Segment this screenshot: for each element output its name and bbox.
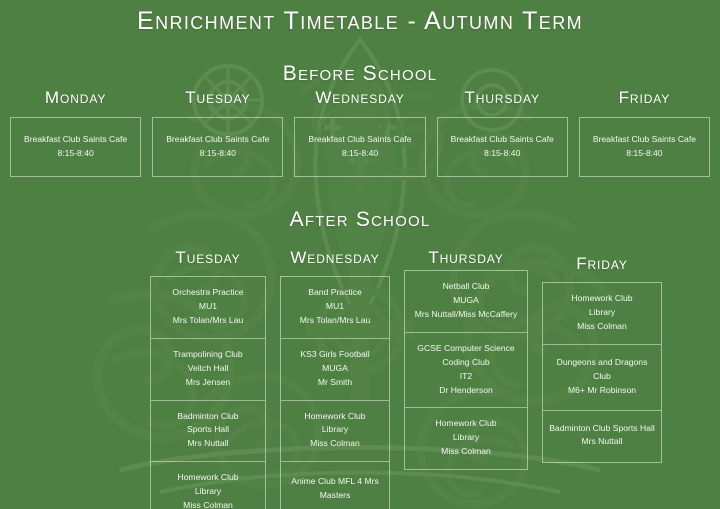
- activity-line: Mrs Tolan/Mrs Lau: [155, 314, 261, 328]
- activity-line: Mr Smith: [285, 376, 385, 390]
- activity-line: Miss Colman: [285, 437, 385, 451]
- activity-line: Orchestra Practice: [155, 286, 261, 300]
- activity-line: Dr Henderson: [409, 384, 523, 398]
- before-school-column-thursday: Thursday Breakfast Club Saints Cafe 8:15…: [437, 88, 568, 177]
- activity-line: Mrs Tolan/Mrs Lau: [285, 314, 385, 328]
- activity-line: 8:15-8:40: [158, 147, 277, 161]
- activity-line: Badminton Club: [155, 410, 261, 424]
- activity-line: Breakfast Club Saints Cafe: [443, 133, 562, 147]
- activity-line: Masters: [285, 489, 385, 503]
- activity-line: 8:15-8:40: [16, 147, 135, 161]
- activity-line: Veitch Hall: [155, 362, 261, 376]
- day-header-tuesday: Tuesday: [150, 248, 266, 268]
- before-school-column-friday: Friday Breakfast Club Saints Cafe 8:15-8…: [579, 88, 710, 177]
- activity-line: Miss Colman: [155, 499, 261, 509]
- activity-line: Miss Colman: [409, 445, 523, 459]
- activity-card[interactable]: Homework Club Library Miss Colman: [281, 401, 389, 463]
- activity-card[interactable]: Breakfast Club Saints Cafe 8:15-8:40: [152, 117, 283, 177]
- page-title: Enrichment Timetable - Autumn Term: [0, 0, 720, 36]
- activity-line: Trampolining Club: [155, 348, 261, 362]
- activity-line: MUGA: [285, 362, 385, 376]
- activity-line: Homework Club: [285, 410, 385, 424]
- day-header-wednesday: Wednesday: [294, 88, 425, 108]
- activity-line: MU1: [155, 300, 261, 314]
- activity-line: Anime Club MFL 4 Mrs: [285, 475, 385, 489]
- activity-line: 8:15-8:40: [443, 147, 562, 161]
- activity-card[interactable]: Breakfast Club Saints Cafe 8:15-8:40: [294, 117, 425, 177]
- activity-line: Sports Hall: [155, 423, 261, 437]
- activity-card-stack: Netball Club MUGA Mrs Nuttall/Miss McCaf…: [404, 270, 528, 470]
- activity-card-stack: Homework Club Library Miss Colman Dungeo…: [542, 282, 662, 463]
- activity-line: Miss Colman: [547, 320, 657, 334]
- activity-card[interactable]: KS3 Girls Football MUGA Mr Smith: [281, 339, 389, 401]
- activity-card[interactable]: Homework Club Library Miss Colman: [405, 408, 527, 469]
- activity-card[interactable]: Band Practice MU1 Mrs Tolan/Mrs Lau: [281, 277, 389, 339]
- before-school-column-tuesday: Tuesday Breakfast Club Saints Cafe 8:15-…: [152, 88, 283, 177]
- activity-card[interactable]: Anime Club MFL 4 Mrs Masters: [281, 462, 389, 509]
- before-school-column-wednesday: Wednesday Breakfast Club Saints Cafe 8:1…: [294, 88, 425, 177]
- before-school-grid: Monday Breakfast Club Saints Cafe 8:15-8…: [10, 88, 710, 177]
- activity-line: IT2: [409, 370, 523, 384]
- activity-line: Band Practice: [285, 286, 385, 300]
- activity-card[interactable]: Netball Club MUGA Mrs Nuttall/Miss McCaf…: [405, 271, 527, 333]
- activity-line: Library: [155, 485, 261, 499]
- day-header-wednesday: Wednesday: [280, 248, 390, 268]
- day-header-monday: Monday: [10, 88, 141, 108]
- activity-card-stack: Band Practice MU1 Mrs Tolan/Mrs Lau KS3 …: [280, 276, 390, 509]
- activity-line: Mrs Nuttall: [155, 437, 261, 451]
- activity-line: Homework Club: [409, 417, 523, 431]
- before-school-column-monday: Monday Breakfast Club Saints Cafe 8:15-8…: [10, 88, 141, 177]
- activity-line: 8:15-8:40: [585, 147, 704, 161]
- activity-line: 8:15-8:40: [300, 147, 419, 161]
- activity-line: Dungeons and Dragons Club: [547, 356, 657, 384]
- activity-line: Mrs Jensen: [155, 376, 261, 390]
- activity-line: KS3 Girls Football: [285, 348, 385, 362]
- section-heading-before-school: Before School: [0, 62, 720, 86]
- activity-card[interactable]: Dungeons and Dragons Club M6+ Mr Robinso…: [543, 345, 661, 411]
- after-school-column-friday: Friday Homework Club Library Miss Colman…: [542, 254, 662, 463]
- day-header-tuesday: Tuesday: [152, 88, 283, 108]
- activity-card[interactable]: Badminton Club Sports Hall Mrs Nuttall: [543, 411, 661, 463]
- activity-line: MU1: [285, 300, 385, 314]
- activity-card[interactable]: Homework Club Library Miss Colman: [151, 462, 265, 509]
- activity-card[interactable]: Badminton Club Sports Hall Mrs Nuttall: [151, 401, 265, 463]
- activity-card[interactable]: Trampolining Club Veitch Hall Mrs Jensen: [151, 339, 265, 401]
- day-header-thursday: Thursday: [404, 248, 528, 268]
- day-header-friday: Friday: [579, 88, 710, 108]
- activity-line: Library: [409, 431, 523, 445]
- activity-line: Homework Club: [547, 292, 657, 306]
- activity-card[interactable]: Breakfast Club Saints Cafe 8:15-8:40: [437, 117, 568, 177]
- activity-card[interactable]: Orchestra Practice MU1 Mrs Tolan/Mrs Lau: [151, 277, 265, 339]
- timetable-page: Enrichment Timetable - Autumn Term Befor…: [0, 0, 720, 509]
- activity-line: M6+ Mr Robinson: [547, 384, 657, 398]
- after-school-grid: Tuesday Orchestra Practice MU1 Mrs Tolan…: [150, 248, 716, 509]
- activity-line: Badminton Club Sports Hall: [547, 422, 657, 436]
- activity-line: Netball Club: [409, 280, 523, 294]
- after-school-column-wednesday: Wednesday Band Practice MU1 Mrs Tolan/Mr…: [280, 248, 390, 509]
- activity-card[interactable]: Homework Club Library Miss Colman: [543, 283, 661, 345]
- activity-line: Homework Club: [155, 471, 261, 485]
- activity-line: GCSE Computer Science: [409, 342, 523, 356]
- activity-line: Library: [547, 306, 657, 320]
- section-heading-after-school: After School: [0, 208, 720, 232]
- activity-line: Library: [285, 423, 385, 437]
- activity-card-stack: Orchestra Practice MU1 Mrs Tolan/Mrs Lau…: [150, 276, 266, 509]
- activity-line: Breakfast Club Saints Cafe: [16, 133, 135, 147]
- activity-line: MUGA: [409, 294, 523, 308]
- activity-card[interactable]: Breakfast Club Saints Cafe 8:15-8:40: [579, 117, 710, 177]
- activity-card[interactable]: GCSE Computer Science Coding Club IT2 Dr…: [405, 333, 527, 409]
- activity-line: Mrs Nuttall: [547, 435, 657, 449]
- day-header-thursday: Thursday: [437, 88, 568, 108]
- activity-line: Breakfast Club Saints Cafe: [158, 133, 277, 147]
- day-header-friday: Friday: [542, 254, 662, 274]
- activity-line: Mrs Nuttall/Miss McCaffery: [409, 308, 523, 322]
- activity-line: Coding Club: [409, 356, 523, 370]
- activity-line: Breakfast Club Saints Cafe: [585, 133, 704, 147]
- activity-card[interactable]: Breakfast Club Saints Cafe 8:15-8:40: [10, 117, 141, 177]
- activity-line: Breakfast Club Saints Cafe: [300, 133, 419, 147]
- after-school-column-thursday: Thursday Netball Club MUGA Mrs Nuttall/M…: [404, 248, 528, 470]
- after-school-column-tuesday: Tuesday Orchestra Practice MU1 Mrs Tolan…: [150, 248, 266, 509]
